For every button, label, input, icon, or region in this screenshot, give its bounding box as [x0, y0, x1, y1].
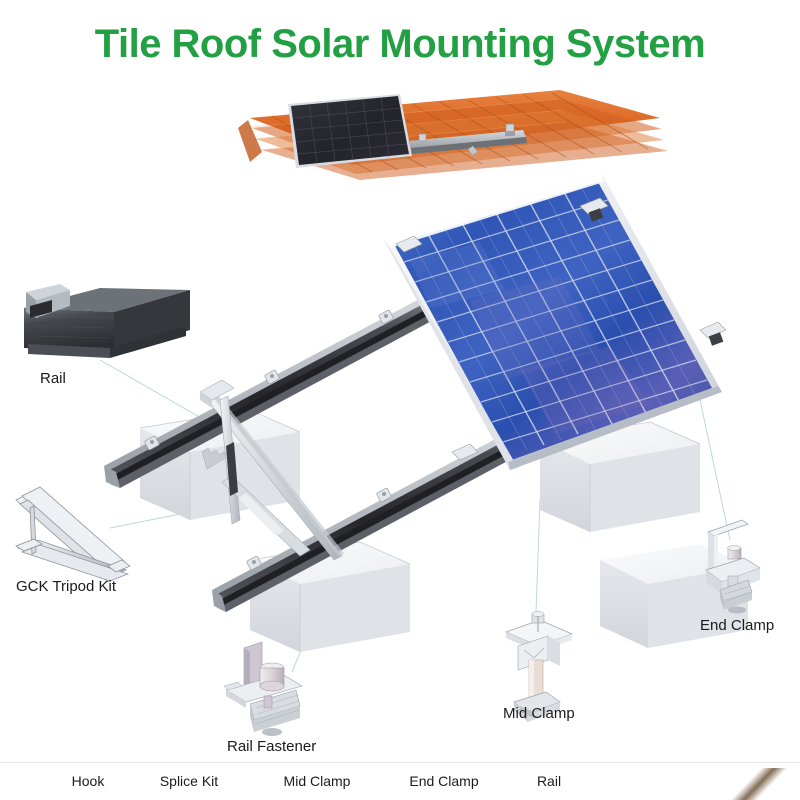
leader-line-end-clamp: [700, 400, 730, 540]
callout-label-end-clamp: End Clamp: [700, 617, 774, 634]
end-clamp-on-panel: [700, 322, 726, 346]
mounting-system-illustration: [0, 0, 800, 800]
callout-label-rail-fastener: Rail Fastener: [227, 738, 316, 755]
strip-item-splice-kit[interactable]: Splice Kit: [160, 773, 218, 789]
strip-item-mid-clamp[interactable]: Mid Clamp: [284, 773, 351, 789]
strip-product-thumbnail[interactable]: [621, 768, 800, 800]
roof-inset-illustration: [238, 90, 668, 180]
leader-line-mid-clamp: [536, 500, 540, 612]
strip-item-hook[interactable]: Hook: [72, 773, 105, 789]
strip-item-end-clamp[interactable]: End Clamp: [409, 773, 478, 789]
rail-profile-icon: [24, 284, 190, 358]
callout-label-rail: Rail: [40, 370, 66, 387]
callout-label-gck-tripod-kit: GCK Tripod Kit: [16, 578, 116, 595]
main-solar-panel: [384, 174, 722, 470]
callout-label-mid-clamp: Mid Clamp: [503, 705, 575, 722]
tripod-kit-icon: [16, 487, 130, 582]
roof-mounted-panel: [288, 94, 412, 168]
rail-fastener-icon: [224, 642, 302, 736]
thumbnail-highlight: [721, 768, 789, 800]
strip-item-rail[interactable]: Rail: [537, 773, 561, 789]
product-diagram-page: Tile Roof Solar Mounting System: [0, 0, 800, 800]
